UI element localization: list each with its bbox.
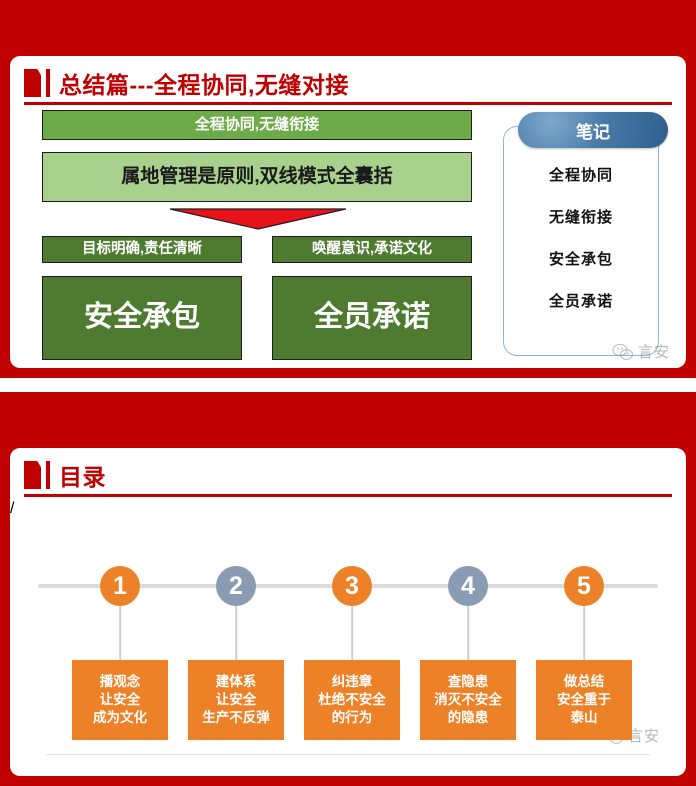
- step-line: 做总结: [564, 674, 605, 689]
- slide-2-body: 1 播观念 让安全 成为文化 / 2 建体系: [10, 500, 686, 776]
- footer-divider: [46, 754, 650, 755]
- step-line: 查隐患: [448, 674, 489, 689]
- step-line: 建体系: [216, 674, 257, 689]
- step-connector: [235, 600, 237, 662]
- slide-1-canvas: 总结篇---全程协同,无缝对接 全程协同,无缝衔接 属地管理是原则,双线模式全囊…: [10, 56, 686, 368]
- step-line: 的行为: [332, 710, 373, 725]
- slide-1: 总结篇---全程协同,无缝对接 全程协同,无缝衔接 属地管理是原则,双线模式全囊…: [0, 0, 696, 378]
- step-number-badge: 4: [448, 566, 488, 606]
- step-card[interactable]: 做总结 安全重于 泰山: [536, 660, 632, 740]
- step-line: 泰山: [571, 710, 598, 725]
- result-box-all-staff-pledge: 全员承诺: [272, 276, 472, 360]
- slide-2-canvas: 目录 1 播观念 让安全 成为文化 /: [10, 448, 686, 776]
- step-number-badge: 1: [100, 566, 140, 606]
- step-card[interactable]: 查隐患 消灭不安全 的隐患: [420, 660, 516, 740]
- banner-box-coordination: 全程协同,无缝衔接: [42, 110, 472, 140]
- step-connector: [119, 600, 121, 662]
- slide-2-title: 目录: [59, 458, 106, 492]
- slide-2-title-rule: [24, 494, 672, 497]
- step-line: 生产不反弹: [202, 710, 270, 725]
- slide-1-title: 总结篇---全程协同,无缝对接: [59, 66, 349, 100]
- watermark-text: 言安: [638, 341, 670, 362]
- title-accent-bar: [46, 461, 50, 489]
- step-number-badge: 5: [564, 566, 604, 606]
- step-line: 让安全: [216, 692, 257, 707]
- notes-item: 安全承包: [503, 248, 659, 269]
- step-number-badge: 2: [216, 566, 256, 606]
- step-line: 纠违章: [332, 674, 373, 689]
- subgoal-box-right: 唤醒意识,承诺文化: [272, 236, 472, 263]
- page-corner-icon: [24, 69, 41, 97]
- notes-list: 全程协同 无缝衔接 安全承包 全员承诺: [503, 164, 659, 332]
- notes-item: 全员承诺: [503, 290, 659, 311]
- step-line: 的隐患: [448, 710, 489, 725]
- notes-item: 全程协同: [503, 164, 659, 185]
- slide-2-header: 目录: [24, 456, 676, 494]
- step-line: 杜绝不安全: [318, 692, 386, 707]
- step-line: 播观念: [100, 674, 141, 689]
- wechat-icon: [612, 343, 634, 361]
- slide-2: 目录 1 播观念 让安全 成为文化 /: [0, 392, 696, 786]
- page-corner-icon: [24, 461, 41, 489]
- step-connector: [583, 600, 585, 662]
- step-line: 安全重于: [557, 692, 611, 707]
- notes-item: 无缝衔接: [503, 206, 659, 227]
- step-line: 消灭不安全: [434, 692, 502, 707]
- step-number-badge: 3: [332, 566, 372, 606]
- title-accent-bar: [46, 69, 50, 97]
- step-connector: [467, 600, 469, 662]
- step-line: 成为文化: [93, 710, 147, 725]
- watermark-text: 言安: [628, 725, 660, 746]
- slide-1-title-rule: [24, 102, 672, 105]
- slide-1-body: 全程协同,无缝衔接 属地管理是原则,双线模式全囊括 目标明确,责任清晰 唤醒意识…: [10, 108, 686, 368]
- main-principle-box: 属地管理是原则,双线模式全囊括: [42, 152, 472, 202]
- subgoal-box-left: 目标明确,责任清晰: [42, 236, 242, 263]
- step-card[interactable]: 纠违章 杜绝不安全 的行为: [304, 660, 400, 740]
- step-card[interactable]: 播观念 让安全 成为文化: [72, 660, 168, 740]
- watermark-slide-1: 言安: [612, 341, 670, 362]
- result-box-safety-contract: 安全承包: [42, 276, 242, 360]
- down-arrow-icon: [170, 208, 346, 230]
- step-line: 让安全: [100, 692, 141, 707]
- step-card[interactable]: 建体系 让安全 生产不反弹: [188, 660, 284, 740]
- slide-1-header: 总结篇---全程协同,无缝对接: [24, 64, 676, 102]
- step-connector: [351, 600, 353, 662]
- notes-tab-label: 笔记: [518, 112, 668, 148]
- slides-page: 总结篇---全程协同,无缝对接 全程协同,无缝衔接 属地管理是原则,双线模式全囊…: [0, 0, 696, 786]
